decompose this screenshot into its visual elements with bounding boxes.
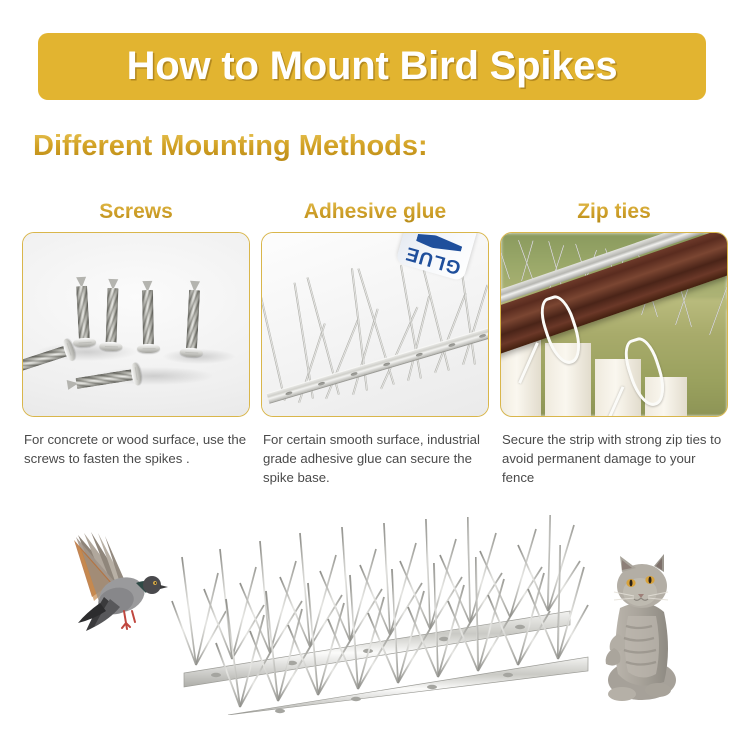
- infographic-page: How to Mount Bird Spikes Different Mount…: [0, 0, 750, 750]
- cat-hind-foot-left: [608, 687, 636, 701]
- page-title: How to Mount Bird Spikes: [127, 44, 618, 89]
- method-heading-screws: Screws: [22, 198, 250, 226]
- pigeon-image: [60, 527, 180, 647]
- method-heading-adhesive-glue: Adhesive glue: [261, 198, 489, 226]
- method-caption-adhesive-glue: For certain smooth surface, industrial g…: [261, 430, 489, 487]
- cat-image: [590, 550, 700, 705]
- hero-illustration: [0, 505, 750, 750]
- pigeon-legs: [122, 611, 130, 629]
- method-column-zip-ties: Zip ties: [500, 198, 728, 487]
- bird-spike-strips: [170, 515, 590, 715]
- zip-photo-background: [501, 233, 727, 416]
- method-column-adhesive-glue: Adhesive glue: [261, 198, 489, 487]
- title-banner: How to Mount Bird Spikes: [38, 33, 706, 100]
- screw: [179, 280, 207, 359]
- subtitle: Different Mounting Methods:: [33, 130, 428, 163]
- pigeon-head: [143, 576, 161, 594]
- screw: [99, 279, 126, 354]
- zip-ties-photo: [500, 232, 728, 417]
- method-heading-zip-ties: Zip ties: [500, 198, 728, 226]
- adhesive-glue-photo: GLUE: [261, 232, 489, 417]
- methods-row: Screws: [0, 198, 750, 487]
- screws-photo: [22, 232, 250, 417]
- method-column-screws: Screws: [22, 198, 250, 487]
- method-caption-screws: For concrete or wood surface, use the sc…: [22, 430, 250, 468]
- screw: [69, 276, 97, 349]
- pigeon-beak: [160, 585, 168, 589]
- screw: [135, 281, 160, 355]
- cat-hind-foot-right: [645, 683, 671, 697]
- method-caption-zip-ties: Secure the strip with strong zip ties to…: [500, 430, 728, 487]
